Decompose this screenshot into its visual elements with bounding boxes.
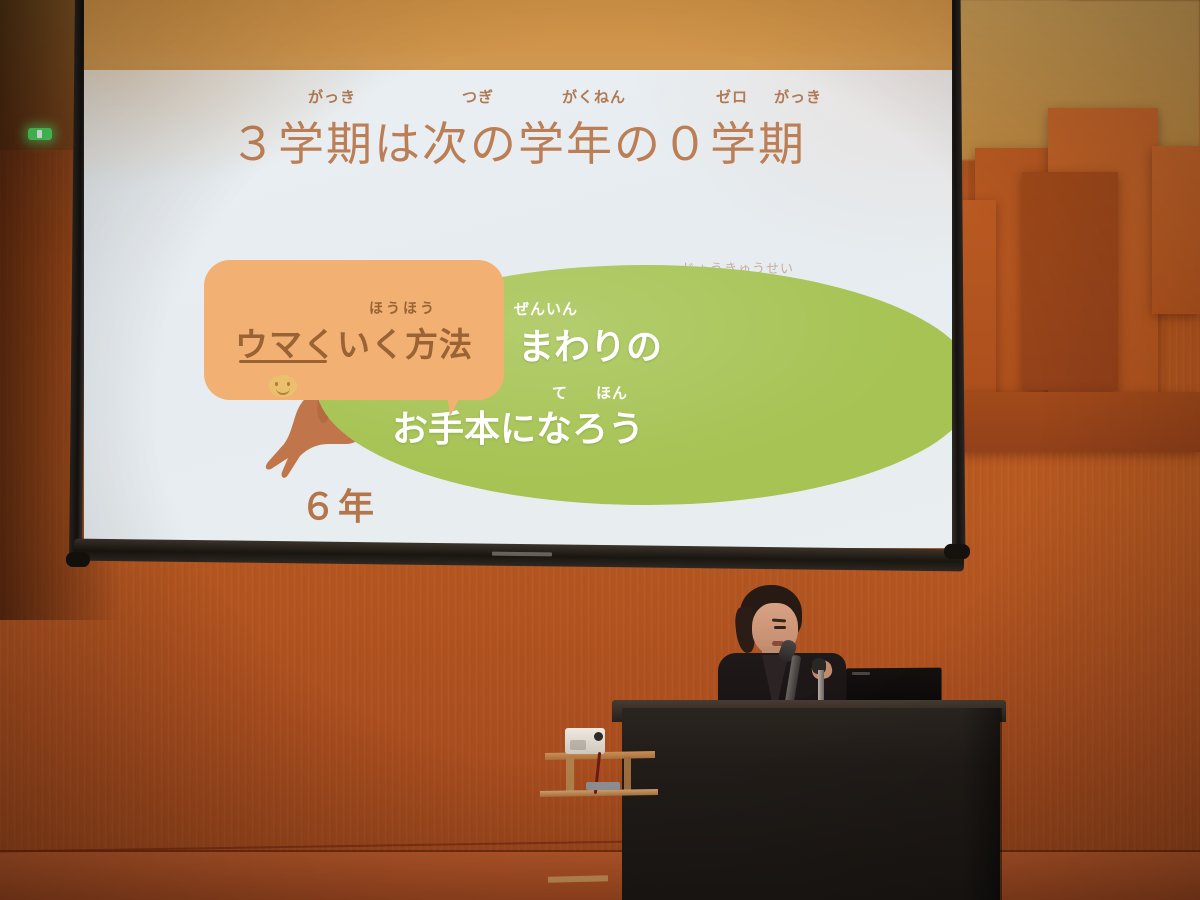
acoustic-panel-4 — [1152, 146, 1200, 314]
exit-sign-icon — [28, 128, 52, 140]
presentation-slide: がっき つぎ がくねん ゼロ がっき ３学期は次の学年の０学期 わくせ じょうき… — [84, 70, 952, 548]
smiley-face-icon — [269, 375, 297, 397]
horse-year-label: ６年 — [300, 478, 376, 530]
acoustic-panel-6 — [960, 392, 1200, 452]
projector-spill-band — [84, 0, 952, 74]
screen-surface: がっき つぎ がくねん ゼロ がっき ３学期は次の学年の０学期 わくせ じょうき… — [84, 0, 952, 548]
presenter-eye — [774, 626, 786, 629]
photograph-scene: がっき つぎ がくねん ゼロ がっき ３学期は次の学年の０学期 わくせ じょうき… — [0, 0, 1200, 900]
podium — [622, 708, 1000, 900]
projector-lens — [594, 732, 603, 741]
screen-roller-label — [492, 552, 552, 557]
projector-power-brick — [586, 782, 620, 790]
ellipse-line-2: お手本になろう — [84, 400, 952, 452]
title-ruby-1: がっき — [308, 86, 356, 107]
bubble-text: ウマくいく方法 — [204, 318, 504, 366]
laptop-hinge — [852, 672, 870, 675]
acoustic-panel-3 — [1022, 172, 1118, 390]
speech-bubble-tail — [446, 381, 471, 417]
slide-title-text: ３学期は次の学年の０学期 — [84, 108, 952, 174]
projector-stand-leg-left — [566, 757, 574, 795]
uma-underline — [239, 360, 327, 363]
screen-roller-cap-left — [66, 552, 90, 567]
slide-title-ruby-row: がっき つぎ がくねん ゼロ がっき — [84, 86, 952, 108]
title-ruby-3: がくねん — [562, 86, 626, 107]
title-ruby-5: がっき — [774, 86, 822, 107]
title-ruby-2: つぎ — [462, 86, 494, 107]
title-ruby-4: ゼロ — [716, 86, 748, 107]
screen-roller-cap-right — [944, 544, 970, 559]
projector-vent — [570, 740, 586, 750]
slide-title-block: がっき つぎ がくねん ゼロ がっき ３学期は次の学年の０学期 — [84, 86, 952, 174]
projection-screen: がっき つぎ がくねん ゼロ がっき ３学期は次の学年の０学期 わくせ じょうき… — [72, 0, 972, 576]
bubble-ruby-houhou: ほうほう — [369, 298, 437, 318]
ellipse-ruby-zenin: ぜんいん — [514, 298, 578, 319]
podium-shadow — [962, 708, 1002, 900]
